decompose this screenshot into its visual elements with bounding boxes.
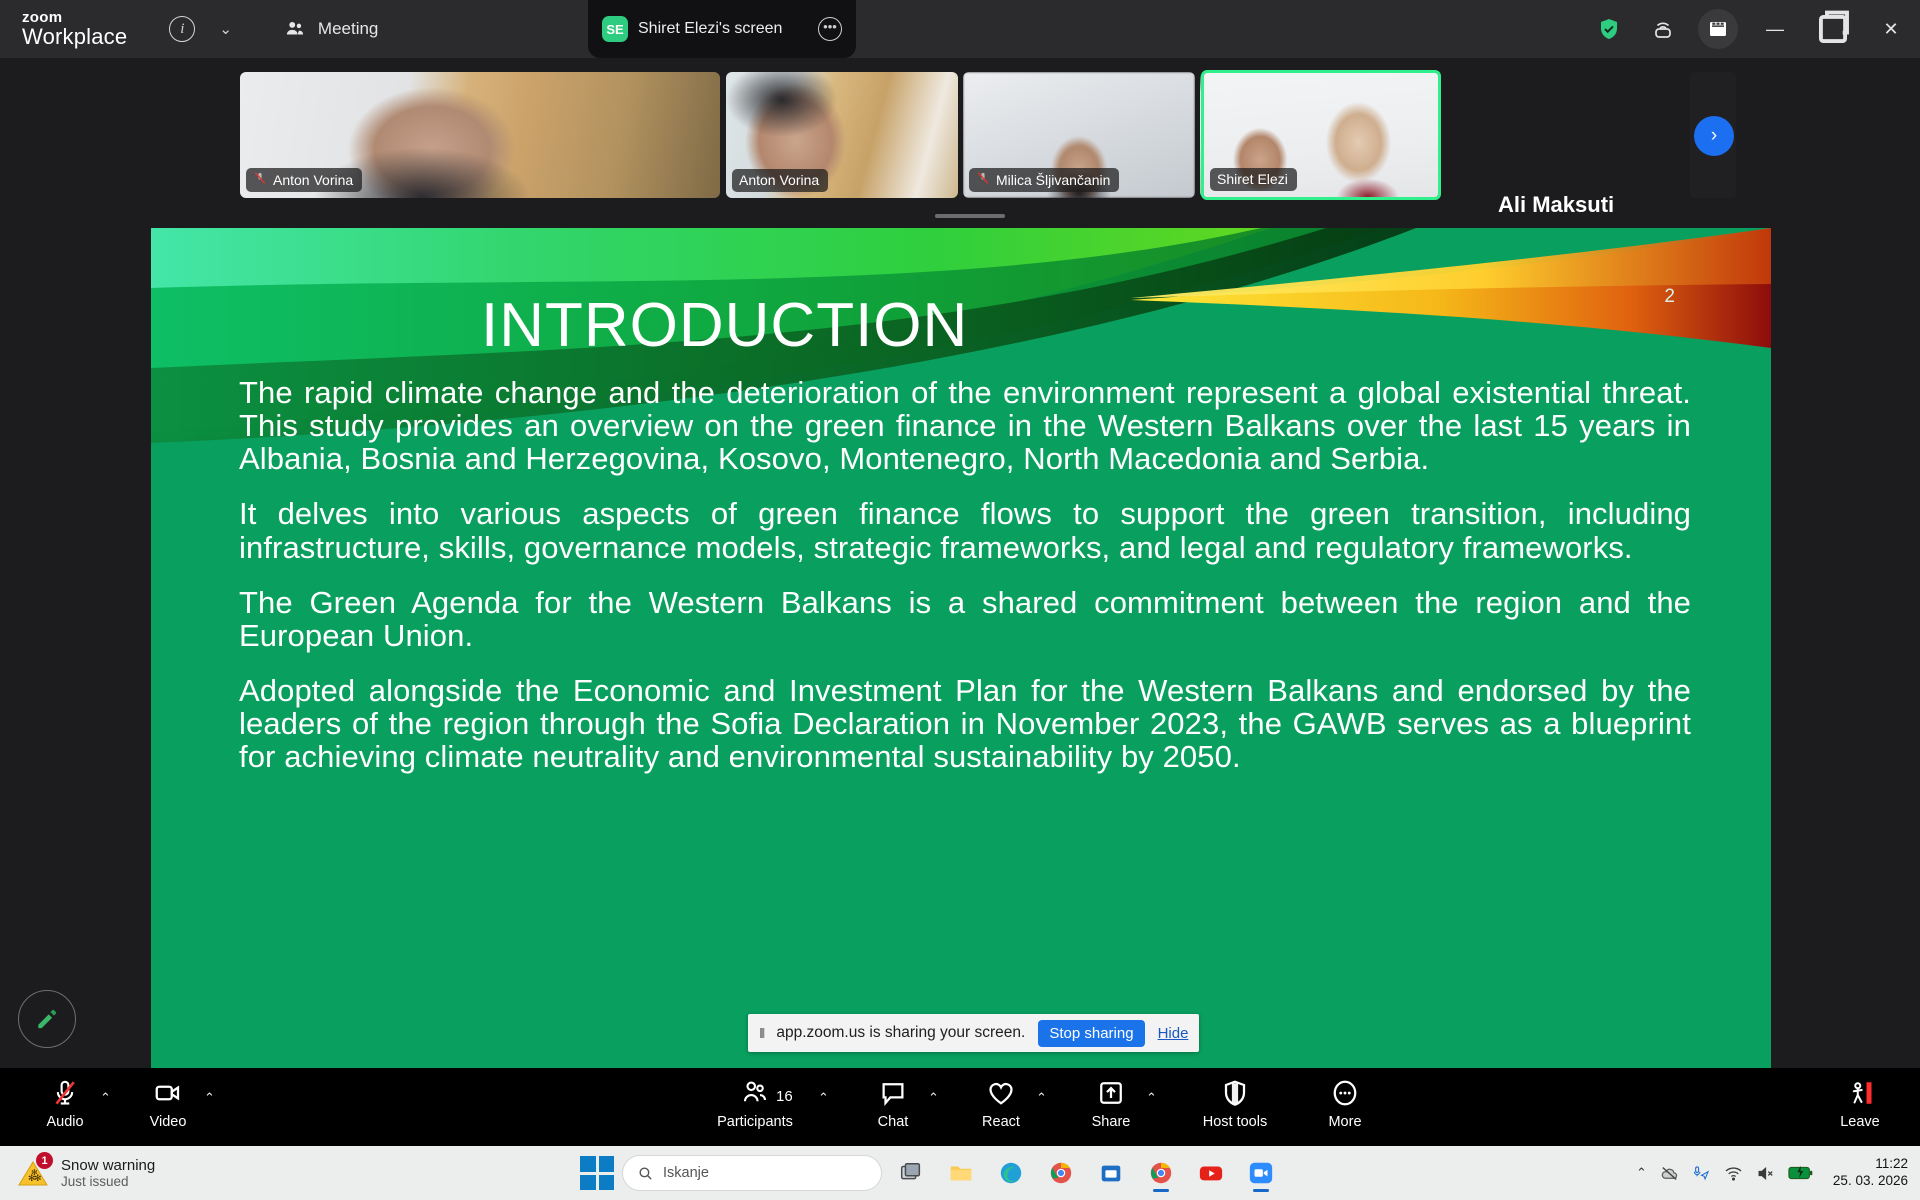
- video-tile-0[interactable]: Anton Vorina: [240, 72, 720, 198]
- tile-name: Anton Vorina: [739, 172, 819, 188]
- search-placeholder: Iskanje: [663, 1165, 709, 1181]
- app-active-indicator: [1153, 1189, 1169, 1192]
- slide-body: The rapid climate change and the deterio…: [239, 376, 1691, 774]
- zoom-icon[interactable]: [1240, 1153, 1282, 1193]
- chat-options-caret[interactable]: ⌃: [928, 1090, 939, 1106]
- microphone-muted-icon: [50, 1076, 80, 1110]
- camera-icon: [153, 1076, 183, 1110]
- search-icon: [637, 1165, 654, 1182]
- recording-grid-icon[interactable]: [1698, 9, 1738, 49]
- meeting-tab[interactable]: Meeting: [284, 18, 378, 40]
- more-dots-icon[interactable]: •••: [818, 17, 842, 41]
- wifi-icon[interactable]: [1724, 1164, 1743, 1183]
- toast-title: Snow warning: [61, 1157, 155, 1174]
- slide-paragraph-3: Adopted alongside the Economic and Inves…: [239, 674, 1691, 773]
- slide-paragraph-0: The rapid climate change and the deterio…: [239, 376, 1691, 475]
- tile-name: Anton Vorina: [273, 172, 353, 188]
- audio-button[interactable]: Audio: [22, 1076, 108, 1130]
- clock-time: 11:22: [1833, 1156, 1908, 1173]
- share-tab-title: Shiret Elezi's screen: [638, 20, 782, 38]
- taskbar-center: Iskanje: [580, 1146, 1282, 1200]
- search-input[interactable]: Iskanje: [622, 1155, 882, 1191]
- slide-paragraph-1: It delves into various aspects of green …: [239, 497, 1691, 563]
- share-options-caret[interactable]: ⌃: [1146, 1090, 1157, 1106]
- info-icon[interactable]: i: [169, 16, 195, 42]
- connection-icon[interactable]: [1636, 0, 1690, 58]
- audio-label: Audio: [46, 1114, 83, 1130]
- brand-line-2: Workplace: [22, 25, 127, 48]
- shared-screen-tab[interactable]: SE Shiret Elezi's screen •••: [588, 0, 856, 58]
- mic-location-icon[interactable]: [1692, 1164, 1711, 1183]
- more-button[interactable]: More: [1302, 1076, 1388, 1130]
- video-tile-4-active[interactable]: Shiret Elezi: [1201, 70, 1441, 200]
- app-active-indicator: [1253, 1189, 1269, 1192]
- participants-count: 16: [776, 1088, 793, 1105]
- chevron-up-icon[interactable]: ⌃: [1636, 1165, 1647, 1181]
- video-label: Video: [150, 1114, 187, 1130]
- people-icon: [284, 18, 306, 40]
- windows-taskbar: ✻ ✻ ✻ 1 Snow warning Just issued Iskanje: [0, 1146, 1920, 1200]
- meeting-label: Meeting: [318, 19, 378, 39]
- zoom-meeting-window: zoom Workplace i ⌄ Meeting SE Shiret Ele…: [0, 0, 1920, 1200]
- participant-filmstrip: Anton Vorina Anton Vorina Milica Šljivan…: [0, 66, 1920, 200]
- mic-muted-icon: [253, 171, 267, 188]
- screen-share-notice: II app.zoom.us is sharing your screen. S…: [748, 1014, 1199, 1052]
- encryption-shield-icon[interactable]: [1582, 0, 1636, 58]
- react-button[interactable]: React: [958, 1076, 1044, 1130]
- slide-number: 2: [1664, 286, 1675, 308]
- participants-options-caret[interactable]: ⌃: [818, 1090, 829, 1106]
- leave-door-icon: [1845, 1076, 1875, 1110]
- leave-button[interactable]: Leave: [1820, 1076, 1900, 1130]
- heart-icon: [986, 1076, 1016, 1110]
- slide-title: INTRODUCTION: [481, 290, 968, 361]
- participants-label: Participants: [717, 1114, 793, 1130]
- weather-toast[interactable]: ✻ ✻ ✻ 1 Snow warning Just issued: [16, 1156, 155, 1190]
- share-label: Share: [1092, 1114, 1131, 1130]
- start-icon[interactable]: [580, 1156, 614, 1190]
- chevron-down-icon[interactable]: ⌄: [219, 20, 232, 38]
- stop-sharing-button[interactable]: Stop sharing: [1038, 1020, 1144, 1047]
- annotate-pen-button[interactable]: [18, 990, 76, 1048]
- battery-charging-icon[interactable]: [1788, 1164, 1814, 1182]
- host-tools-label: Host tools: [1203, 1114, 1267, 1130]
- leave-label: Leave: [1840, 1114, 1880, 1130]
- more-label: More: [1328, 1114, 1361, 1130]
- share-notice-text: app.zoom.us is sharing your screen.: [776, 1024, 1025, 1042]
- meeting-toolbar: Audio ⌃ Video ⌃ Participants 16 ⌃: [0, 1068, 1920, 1146]
- brand-line-1: zoom: [22, 10, 127, 26]
- slide-decoration-right: [1131, 228, 1771, 358]
- volume-muted-icon[interactable]: [1756, 1164, 1775, 1183]
- slide-paragraph-2: The Green Agenda for the Western Balkans…: [239, 586, 1691, 652]
- system-tray: ⌃ 11:22 25. 03. 2026: [1636, 1146, 1908, 1200]
- share-button[interactable]: Share: [1068, 1076, 1154, 1130]
- pause-icon[interactable]: II: [759, 1025, 763, 1042]
- clock-date: 25. 03. 2026: [1833, 1173, 1908, 1190]
- file-explorer-icon[interactable]: [940, 1153, 982, 1193]
- tile-name-badge: Shiret Elezi: [1210, 168, 1297, 191]
- shared-slide: 2 INTRODUCTION The rapid climate change …: [151, 228, 1771, 1068]
- filmstrip-resize-handle[interactable]: [935, 214, 1005, 218]
- react-options-caret[interactable]: ⌃: [1036, 1090, 1047, 1106]
- window-controls: — ✕: [1582, 0, 1920, 58]
- taskbar-clock[interactable]: 11:22 25. 03. 2026: [1833, 1156, 1908, 1190]
- host-tools-button[interactable]: Host tools: [1180, 1076, 1290, 1130]
- youtube-icon[interactable]: [1190, 1153, 1232, 1193]
- more-dots-icon: [1330, 1076, 1360, 1110]
- share-avatar: SE: [602, 16, 628, 42]
- toast-subtitle: Just issued: [61, 1174, 155, 1190]
- task-view-icon[interactable]: [890, 1153, 932, 1193]
- store-icon[interactable]: [1090, 1153, 1132, 1193]
- title-bar: zoom Workplace i ⌄ Meeting SE Shiret Ele…: [0, 0, 1920, 58]
- chrome-icon[interactable]: [1040, 1153, 1082, 1193]
- tile-name-badge: Anton Vorina: [732, 169, 828, 192]
- chevron-right-icon: ›: [1711, 125, 1717, 147]
- onedrive-paused-icon[interactable]: [1660, 1164, 1679, 1183]
- svg-text:✻: ✻: [31, 1168, 38, 1177]
- video-tile-1[interactable]: Anton Vorina: [726, 72, 958, 198]
- video-options-caret[interactable]: ⌃: [204, 1090, 215, 1106]
- pen-icon: [34, 1006, 60, 1032]
- toast-badge: 1: [36, 1152, 53, 1169]
- chrome-app-icon[interactable]: [1140, 1153, 1182, 1193]
- audio-only-name: Ali Maksuti: [1498, 192, 1614, 218]
- restore-icon[interactable]: [1804, 0, 1862, 58]
- video-button[interactable]: Video: [125, 1076, 211, 1130]
- tile-name: Shiret Elezi: [1217, 171, 1288, 187]
- mic-muted-icon: [976, 171, 990, 188]
- weather-warning-icon: ✻ ✻ ✻ 1: [16, 1156, 50, 1190]
- chat-button[interactable]: Chat: [850, 1076, 936, 1130]
- tile-name-badge: Milica Šljivančanin: [969, 168, 1119, 192]
- share-screen-icon: [1096, 1076, 1126, 1110]
- chat-bubble-icon: [878, 1076, 908, 1110]
- minimize-icon[interactable]: —: [1746, 0, 1804, 58]
- people-icon: [740, 1076, 770, 1110]
- zoom-logo: zoom Workplace: [22, 10, 127, 49]
- audio-options-caret[interactable]: ⌃: [100, 1090, 111, 1106]
- hide-notice-button[interactable]: Hide: [1158, 1025, 1189, 1042]
- shield-icon: [1220, 1076, 1250, 1110]
- video-tile-2[interactable]: Milica Šljivančanin: [963, 72, 1195, 198]
- chat-label: Chat: [878, 1114, 909, 1130]
- close-icon[interactable]: ✕: [1862, 0, 1920, 58]
- edge-icon[interactable]: [990, 1153, 1032, 1193]
- audio-only-tile[interactable]: [1449, 72, 1681, 198]
- tile-name: Milica Šljivančanin: [996, 172, 1110, 188]
- tile-name-badge: Anton Vorina: [246, 168, 362, 192]
- filmstrip-next-button[interactable]: ›: [1694, 116, 1734, 156]
- react-label: React: [982, 1114, 1020, 1130]
- toast-text: Snow warning Just issued: [61, 1157, 155, 1190]
